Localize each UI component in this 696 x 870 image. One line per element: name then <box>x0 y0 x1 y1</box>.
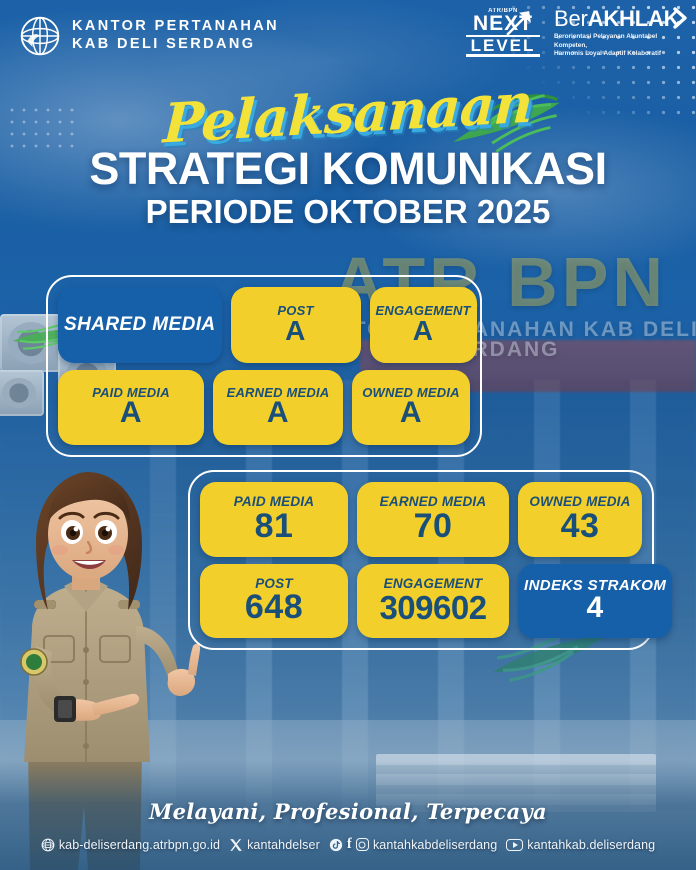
berakhlak-ber: Ber <box>554 6 588 31</box>
social-handle-x: kantahdelser <box>247 838 320 852</box>
social-links-bar: kab-deliserdang.atrbpn.go.id kantahdelse… <box>0 837 696 852</box>
next-level-logo: ATR/BPN NEXT LEVEL <box>466 8 540 58</box>
card-earned-media-grade-value: A <box>267 398 289 429</box>
card-engagement-count[interactable]: ENGAGEMENT 309602 <box>357 564 509 639</box>
card-earned-media-count-value: 70 <box>414 509 453 544</box>
organization-brand: KANTOR PERTANAHAN KAB DELI SERDANG <box>18 14 279 58</box>
card-engagement-grade-value: A <box>413 317 434 346</box>
social-item-youtube[interactable]: kantahkab.deliserdang <box>506 838 655 852</box>
card-owned-media-grade-value: A <box>400 398 422 429</box>
card-post-grade-value: A <box>285 317 306 346</box>
x-twitter-icon <box>229 838 243 852</box>
card-post-grade[interactable]: POST A <box>231 287 361 363</box>
card-owned-media-count-value: 43 <box>561 509 600 544</box>
card-earned-media-count[interactable]: EARNED MEDIA 70 <box>357 482 509 557</box>
social-item-combined[interactable]: f kantahkabdeliserdang <box>329 837 497 852</box>
card-paid-media-count-value: 81 <box>255 509 294 544</box>
metrics-row-2: POST 648 ENGAGEMENT 309602 INDEKS STRAKO… <box>200 564 642 639</box>
card-shared-media[interactable]: SHARED MEDIA <box>58 287 222 363</box>
social-item-website[interactable]: kab-deliserdang.atrbpn.go.id <box>41 838 220 852</box>
metrics-card-group: PAID MEDIA 81 EARNED MEDIA 70 OWNED MEDI… <box>188 470 654 650</box>
card-post-count[interactable]: POST 648 <box>200 564 348 639</box>
grades-card-group: SHARED MEDIA POST A ENGAGEMENT A PAID ME… <box>46 275 482 457</box>
infographic-poster: ATR BPN KANTOR PERTANAHAN KAB DELI SERDA… <box>0 0 696 870</box>
social-handle-combined: kantahkabdeliserdang <box>373 838 497 852</box>
title-main: STRATEGI KOMUNIKASI <box>0 146 696 192</box>
tiktok-icon <box>329 838 343 852</box>
card-paid-media-count[interactable]: PAID MEDIA 81 <box>200 482 348 557</box>
card-engagement-count-value: 309602 <box>379 591 486 625</box>
card-indeks-strakom-value: 4 <box>587 593 604 624</box>
facebook-icon: f <box>347 837 352 852</box>
card-shared-media-label: SHARED MEDIA <box>64 315 216 335</box>
card-engagement-grade[interactable]: ENGAGEMENT A <box>370 287 477 363</box>
chevron-right-icon <box>668 6 692 30</box>
title-block: Pelaksanaan STRATEGI KOMUNIKASI PERIODE … <box>0 86 696 230</box>
youtube-icon <box>506 839 523 851</box>
org-name-line2: KAB DELI SERDANG <box>72 36 279 54</box>
social-handle-youtube: kantahkab.deliserdang <box>527 838 655 852</box>
metrics-row-1: PAID MEDIA 81 EARNED MEDIA 70 OWNED MEDI… <box>200 482 642 557</box>
grades-row-1: SHARED MEDIA POST A ENGAGEMENT A <box>58 287 470 363</box>
berakhlak-subtitle-line2: Harmonis Loyal Adaptif Kolaboratif <box>554 50 680 59</box>
card-paid-media-grade[interactable]: PAID MEDIA A <box>58 370 204 446</box>
social-item-x[interactable]: kantahdelser <box>229 838 320 852</box>
card-earned-media-grade[interactable]: EARNED MEDIA A <box>213 370 343 446</box>
title-period: PERIODE OKTOBER 2025 <box>0 194 696 230</box>
globe-logo-icon <box>18 14 62 58</box>
social-handle-website: kab-deliserdang.atrbpn.go.id <box>59 838 220 852</box>
poster-header: KANTOR PERTANAHAN KAB DELI SERDANG ATR/B… <box>0 0 696 72</box>
card-owned-media-grade[interactable]: OWNED MEDIA A <box>352 370 470 446</box>
next-level-top-label: ATR/BPN <box>466 8 540 14</box>
instagram-icon <box>356 838 369 851</box>
berakhlak-akhlak: AKHLAK <box>588 6 680 31</box>
motto-text: Melayani, Profesional, Terpecaya <box>0 799 696 824</box>
title-script: Pelaksanaan <box>162 76 533 151</box>
header-logos: ATR/BPN NEXT LEVEL BerAKHLAK Berorientas… <box>466 8 680 59</box>
globe-icon <box>41 838 55 852</box>
card-owned-media-count[interactable]: OWNED MEDIA 43 <box>518 482 642 557</box>
grades-row-2: PAID MEDIA A EARNED MEDIA A OWNED MEDIA … <box>58 370 470 446</box>
berakhlak-subtitle-line1: Berorientasi Pelayanan Akuntabel Kompete… <box>554 33 680 50</box>
card-indeks-strakom[interactable]: INDEKS STRAKOM 4 <box>518 564 672 639</box>
org-name-line1: KANTOR PERTANAHAN <box>72 18 279 36</box>
card-post-count-value: 648 <box>245 590 303 625</box>
card-paid-media-grade-value: A <box>120 398 142 429</box>
berakhlak-logo: BerAKHLAK Berorientasi Pelayanan Akuntab… <box>554 8 680 59</box>
